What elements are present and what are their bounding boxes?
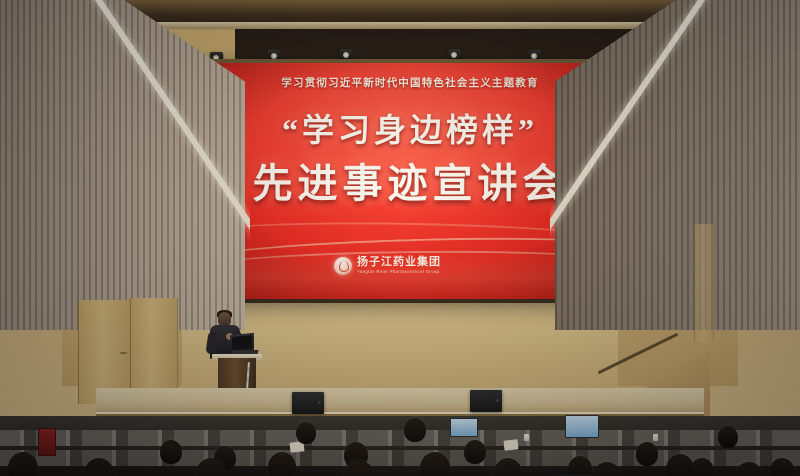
laptop-screen [232, 335, 252, 350]
audience-head [268, 452, 296, 476]
audience-head [718, 426, 738, 448]
audience-head [770, 458, 794, 476]
audience-head [296, 422, 316, 444]
audience-head [420, 452, 450, 476]
audience-head [160, 440, 182, 464]
stage-door-right[interactable] [694, 224, 714, 342]
stage-door-left-leaf2[interactable] [130, 298, 178, 402]
audience-head [666, 454, 694, 476]
audience-laptop-1[interactable] [450, 418, 478, 437]
stage-monitor-right [470, 390, 502, 412]
audience-head [8, 452, 38, 476]
seat-back-row [0, 430, 800, 446]
audience-head [464, 440, 486, 464]
door-handle-icon [120, 352, 127, 354]
water-cup [524, 434, 529, 441]
water-cup [653, 434, 658, 441]
audience-laptop-2[interactable] [565, 415, 599, 438]
audience-head [404, 418, 426, 442]
acoustic-panel-right [550, 0, 800, 330]
stage-floor-wood [96, 330, 704, 390]
stage-monitor-left [292, 392, 324, 414]
auditorium-photo: 学习贯彻习近平新时代中国特色社会主义主题教育 “学习身边榜样” 先进事迹宣讲会 … [0, 0, 800, 476]
red-equipment-case [38, 428, 56, 456]
audience-head [568, 456, 592, 476]
acoustic-panel-left [0, 0, 250, 330]
audience-head [636, 442, 658, 466]
handout-paper [504, 439, 519, 450]
